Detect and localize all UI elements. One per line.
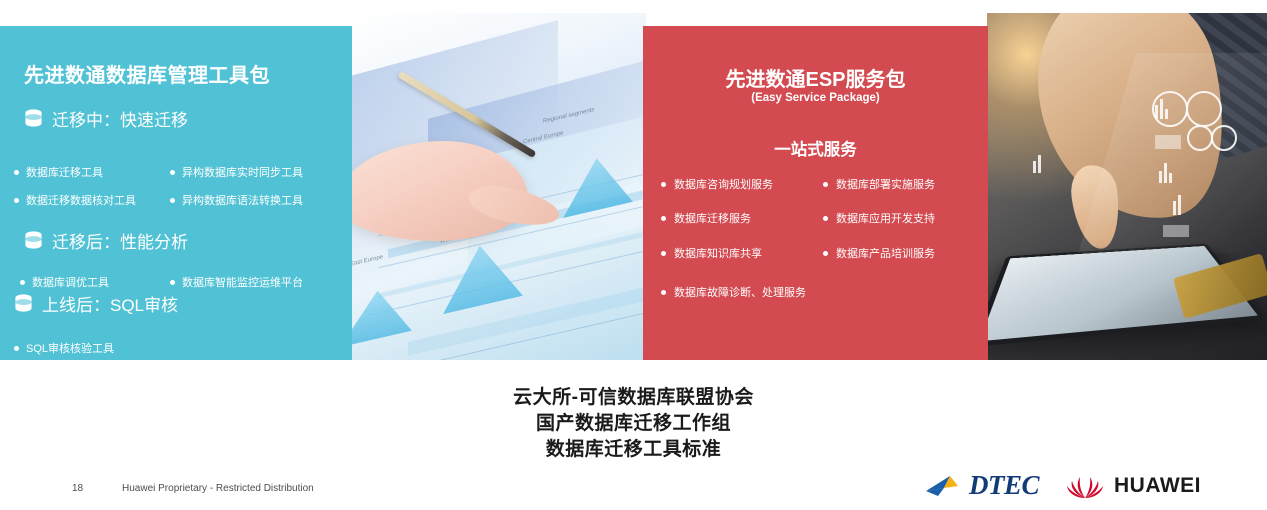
list-item-label: 数据库智能监控运维平台 — [182, 274, 303, 290]
hud-bar-icon — [1169, 173, 1172, 183]
hud-circle-icon — [1186, 91, 1222, 127]
caption-block: 云大所-可信数据库联盟协会 国产数据库迁移工作组 数据库迁移工具标准 — [0, 385, 1267, 463]
hud-circle-icon — [1187, 125, 1213, 151]
caption-line-2: 国产数据库迁移工作组 — [0, 411, 1267, 437]
hud-bar-icon — [1033, 161, 1036, 173]
huawei-wordmark: HUAWEI — [1114, 474, 1201, 498]
list-item: 数据库知识库共享 — [661, 245, 762, 261]
list-item-label: 数据库部署实施服务 — [836, 176, 935, 192]
right-panel-title: 先进数通ESP服务包 — [643, 63, 988, 92]
banner-strip: Regional segments Central Europe West Eu… — [0, 13, 1267, 360]
page-number: 18 — [72, 483, 83, 494]
list-item: 数据库调优工具 — [20, 274, 109, 290]
list-item-label: 数据库迁移工具 — [26, 164, 103, 180]
left-section-heading-migrating: 迁移中：快速迁移 — [24, 106, 188, 131]
list-item: 数据库咨询规划服务 — [661, 176, 773, 192]
caption-line-3: 数据库迁移工具标准 — [0, 437, 1267, 463]
list-item-label: 异构数据库语法转换工具 — [182, 192, 303, 208]
hud-bar-icon — [1164, 163, 1167, 183]
list-item-label: 数据库知识库共享 — [674, 245, 762, 261]
hud-bar-icon — [1160, 99, 1163, 119]
middle-photo: Regional segments Central Europe West Eu… — [348, 13, 646, 360]
hud-bar-icon — [1173, 201, 1176, 215]
list-item: 异构数据库语法转换工具 — [170, 192, 303, 208]
bullet-dot-icon — [14, 198, 19, 203]
bullet-dot-icon — [170, 280, 175, 285]
bullet-dot-icon — [170, 170, 175, 175]
hud-bar-icon — [1155, 105, 1158, 119]
list-item: 数据库迁移服务 — [661, 210, 751, 226]
left-section-heading-after-migration: 迁移后：性能分析 — [24, 228, 188, 253]
left-section-heading-after-launch: 上线后：SQL审核 — [14, 291, 178, 316]
hud-block-icon — [1155, 135, 1181, 149]
list-item: 数据库产品培训服务 — [823, 245, 935, 261]
list-item: 数据库应用开发支持 — [823, 210, 935, 226]
bullet-dot-icon — [170, 198, 175, 203]
list-item-label: 数据库故障诊断、处理服务 — [674, 284, 806, 300]
copyright-notice: Huawei Proprietary - Restricted Distribu… — [122, 483, 314, 494]
bullet-dot-icon — [823, 251, 828, 256]
caption-line-1: 云大所-可信数据库联盟协会 — [0, 385, 1267, 411]
bullet-dot-icon — [661, 216, 666, 221]
right-panel-subtitle: (Easy Service Package) — [643, 92, 988, 104]
huawei-logo: HUAWEI — [1065, 471, 1201, 501]
hud-block-icon — [1163, 225, 1189, 237]
bullet-dot-icon — [661, 290, 666, 295]
dtec-logo: DTEC — [924, 470, 1039, 501]
list-item-label: 数据库咨询规划服务 — [674, 176, 773, 192]
database-icon — [24, 230, 43, 251]
right-panel-heading: 一站式服务 — [643, 136, 988, 160]
list-item-label: 数据库迁移服务 — [674, 210, 751, 226]
list-item: 数据库故障诊断、处理服务 — [661, 284, 806, 300]
left-section-label: 上线后：SQL审核 — [42, 291, 178, 316]
right-photo — [987, 13, 1267, 360]
slide-canvas: Regional segments Central Europe West Eu… — [0, 0, 1267, 510]
left-section-label: 迁移中：快速迁移 — [52, 106, 188, 131]
bullet-dot-icon — [823, 182, 828, 187]
left-panel: 先进数通数据库管理工具包 迁移中：快速迁移 数据库迁移工具 异构数据库实时同步工… — [0, 26, 352, 360]
left-panel-title: 先进数通数据库管理工具包 — [24, 59, 270, 88]
list-item-label: 数据迁移数据核对工具 — [26, 192, 136, 208]
bullet-dot-icon — [823, 216, 828, 221]
list-item-label: 数据库调优工具 — [32, 274, 109, 290]
bullet-dot-icon — [14, 346, 19, 351]
logo-group: DTEC HUAWEI — [924, 470, 1201, 501]
left-section-label: 迁移后：性能分析 — [52, 228, 188, 253]
list-item: 数据迁移数据核对工具 — [14, 192, 136, 208]
database-icon — [14, 293, 33, 314]
list-item: 数据库迁移工具 — [14, 164, 103, 180]
bullet-dot-icon — [14, 170, 19, 175]
list-item-label: SQL审核核验工具 — [26, 340, 114, 356]
list-item: SQL审核核验工具 — [14, 340, 114, 356]
hud-bar-icon — [1178, 195, 1181, 215]
hud-bar-icon — [1159, 171, 1162, 183]
hud-bar-icon — [1165, 109, 1168, 119]
bullet-dot-icon — [661, 251, 666, 256]
bullet-dot-icon — [661, 182, 666, 187]
list-item-label: 异构数据库实时同步工具 — [182, 164, 303, 180]
list-item: 数据库部署实施服务 — [823, 176, 935, 192]
hud-bar-icon — [1038, 155, 1041, 173]
database-icon — [24, 108, 43, 129]
list-item: 异构数据库实时同步工具 — [170, 164, 303, 180]
list-item: 数据库智能监控运维平台 — [170, 274, 303, 290]
huawei-flower-icon — [1065, 471, 1105, 501]
dtec-wordmark: DTEC — [969, 470, 1039, 501]
photo-label: East Europe — [350, 254, 383, 268]
dtec-mark-icon — [924, 472, 966, 500]
list-item-label: 数据库应用开发支持 — [836, 210, 935, 226]
bullet-dot-icon — [20, 280, 25, 285]
hud-circle-icon — [1211, 125, 1237, 151]
list-item-label: 数据库产品培训服务 — [836, 245, 935, 261]
right-panel: 先进数通ESP服务包 (Easy Service Package) 一站式服务 … — [643, 26, 988, 360]
